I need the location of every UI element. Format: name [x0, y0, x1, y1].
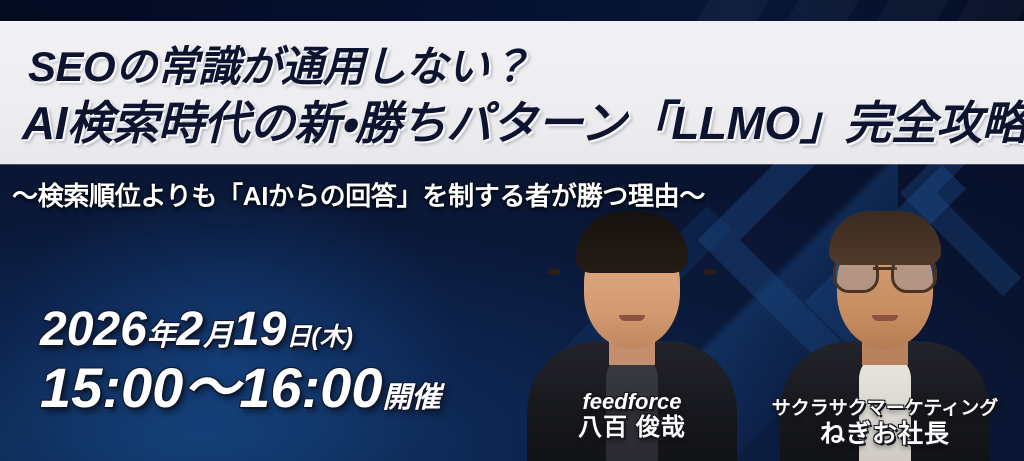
- webinar-banner: SEOの常識が通用しない？ AI検索時代の新・勝ちパターン「LLMO」完全攻略 …: [0, 0, 1024, 461]
- speaker-2-name: ねぎお社長: [760, 419, 1010, 449]
- top-strip: [0, 0, 1024, 21]
- title-line-2: AI検索時代の新・勝ちパターン「LLMO」完全攻略: [22, 87, 1024, 153]
- time-held-label: 開催: [382, 382, 440, 414]
- date-weekday: (木): [311, 323, 353, 351]
- speaker-2-organization: サクラサクマーケティング: [760, 398, 1010, 419]
- time-start: 15:00: [40, 356, 183, 419]
- title-line-1: SEOの常識が通用しない？: [28, 33, 530, 94]
- speaker-card-2: サクラサクマーケティング ねぎお社長: [760, 199, 1010, 461]
- speaker-1-organization: feedforce: [512, 390, 752, 415]
- title-band: SEOの常識が通用しない？ AI検索時代の新・勝ちパターン「LLMO」完全攻略: [0, 21, 1024, 164]
- speaker-1-name: 八百 俊哉: [512, 414, 752, 443]
- date-year: 2026: [40, 303, 147, 356]
- speaker-card-1: feedforce 八百 俊哉: [512, 211, 752, 461]
- subtitle: 〜検索順位よりも「AIからの回答」を制する者が勝つ理由〜: [12, 176, 705, 213]
- speaker-1-label: feedforce 八百 俊哉: [512, 390, 752, 443]
- date-month: 2: [177, 303, 204, 356]
- event-datetime: 2026年2月19日(木) 15:00〜16:00開催: [40, 306, 441, 416]
- time-end: 16:00: [239, 356, 382, 419]
- date-year-unit: 年: [147, 319, 177, 352]
- event-time: 15:00〜16:00開催: [40, 360, 441, 416]
- date-day-unit: 日: [286, 323, 311, 351]
- event-date: 2026年2月19日(木): [40, 306, 441, 354]
- speaker-2-label: サクラサクマーケティング ねぎお社長: [760, 398, 1010, 449]
- time-separator: 〜: [183, 356, 239, 419]
- date-day: 19: [233, 303, 286, 356]
- date-month-unit: 月: [203, 319, 233, 352]
